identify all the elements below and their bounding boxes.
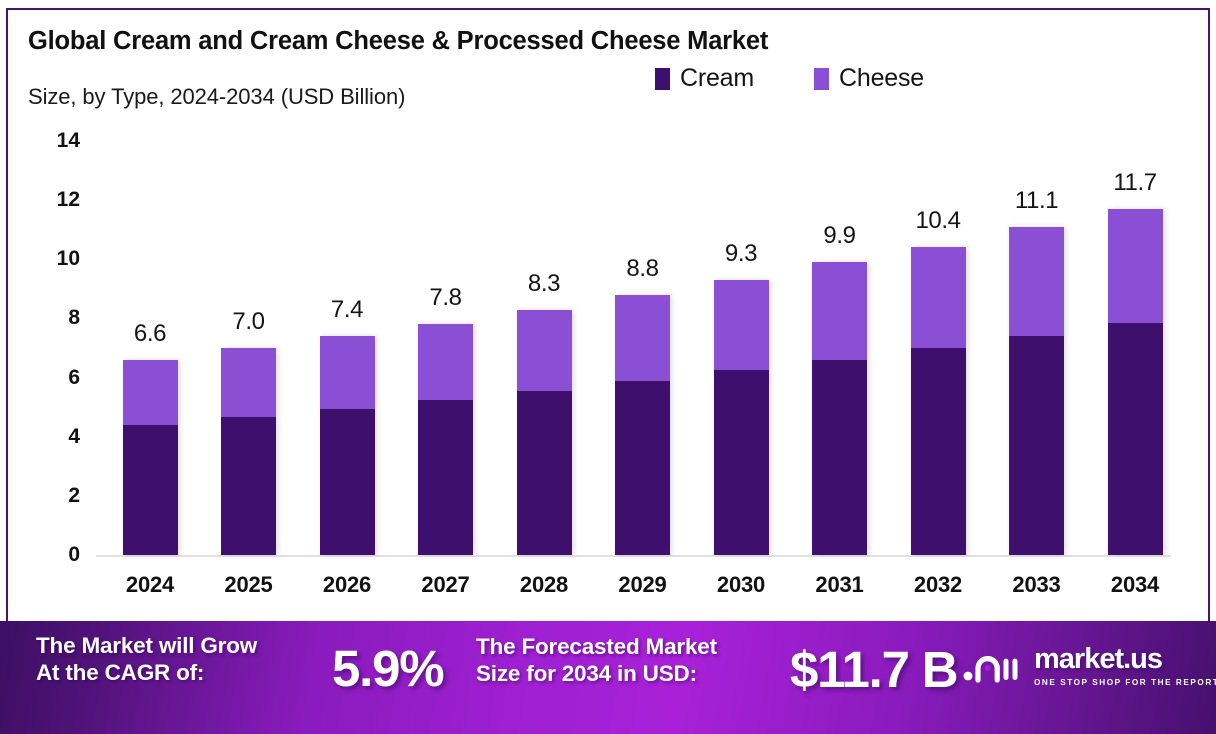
bar-segment-cheese[interactable] (911, 247, 966, 348)
bar-stack[interactable] (1009, 227, 1064, 555)
bar-stack[interactable] (123, 360, 178, 555)
bar-segment-cream[interactable] (418, 400, 473, 555)
bar-segment-cream[interactable] (615, 381, 670, 555)
bar-segment-cream[interactable] (911, 348, 966, 555)
bar-value-label: 9.3 (686, 240, 796, 268)
market-us-logo[interactable]: market.us ONE STOP SHOP FOR THE REPORTS (963, 645, 1216, 687)
x-axis-tick-label: 2027 (391, 572, 501, 598)
bar-value-label: 6.6 (95, 320, 205, 348)
x-axis-tick-label: 2029 (588, 572, 698, 598)
bar-segment-cream[interactable] (1009, 336, 1064, 555)
y-axis-tick-label: 14 (34, 129, 80, 153)
cagr-label-line1: The Market will Grow (36, 633, 257, 660)
y-axis-tick-label: 10 (34, 247, 80, 271)
bar-segment-cheese[interactable] (714, 280, 769, 370)
bar-segment-cheese[interactable] (812, 262, 867, 360)
bar-value-label: 9.9 (785, 222, 895, 250)
bar-segment-cream[interactable] (812, 360, 867, 555)
market-us-logo-icon (963, 649, 1025, 683)
forecast-label-line1: The Forecasted Market (476, 634, 717, 661)
bar-value-label: 7.4 (292, 296, 402, 324)
x-axis-tick-label: 2031 (785, 572, 895, 598)
bar-stack[interactable] (911, 247, 966, 555)
y-axis-tick-label: 8 (34, 306, 80, 330)
bar-stack[interactable] (221, 348, 276, 555)
forecast-label: The Forecasted Market Size for 2034 in U… (476, 634, 717, 687)
x-axis-tick-label: 2033 (982, 572, 1092, 598)
bar-segment-cheese[interactable] (517, 310, 572, 391)
bar-segment-cream[interactable] (221, 417, 276, 555)
bar-segment-cheese[interactable] (320, 336, 375, 408)
bar-value-label: 10.4 (883, 207, 993, 235)
bar-stack[interactable] (714, 280, 769, 555)
bar-segment-cheese[interactable] (221, 348, 276, 417)
bar-segment-cream[interactable] (123, 425, 178, 555)
bar-segment-cream[interactable] (320, 409, 375, 555)
bar-segment-cheese[interactable] (1108, 209, 1163, 323)
y-axis-tick-label: 12 (34, 188, 80, 212)
x-axis-tick-label: 2025 (194, 572, 304, 598)
x-axis-tick-label: 2032 (883, 572, 993, 598)
bar-value-label: 7.8 (391, 284, 501, 312)
bar-value-label: 7.0 (194, 308, 304, 336)
x-axis-tick-label: 2030 (686, 572, 796, 598)
bar-value-label: 8.8 (588, 255, 698, 283)
infographic-page: Global Cream and Cream Cheese & Processe… (0, 0, 1216, 734)
bar-segment-cheese[interactable] (615, 295, 670, 381)
bar-stack[interactable] (1108, 209, 1163, 555)
cagr-label-line2: At the CAGR of: (36, 660, 257, 687)
bar-stack[interactable] (517, 310, 572, 555)
bar-value-label: 8.3 (489, 270, 599, 298)
bar-segment-cheese[interactable] (1009, 227, 1064, 336)
bar-segment-cheese[interactable] (123, 360, 178, 425)
bar-segment-cream[interactable] (714, 370, 769, 555)
y-axis-tick-label: 2 (34, 484, 80, 508)
bar-stack[interactable] (418, 324, 473, 555)
logo-tagline: ONE STOP SHOP FOR THE REPORTS (1034, 678, 1216, 687)
x-axis-tick-label: 2024 (95, 572, 205, 598)
x-axis-tick-label: 2034 (1080, 572, 1190, 598)
bar-stack[interactable] (615, 295, 670, 555)
cagr-label: The Market will Grow At the CAGR of: (36, 633, 257, 686)
bar-stack[interactable] (812, 262, 867, 555)
x-axis-tick-label: 2028 (489, 572, 599, 598)
forecast-value: $11.7 B (790, 640, 957, 699)
forecast-label-line2: Size for 2034 in USD: (476, 661, 717, 688)
cagr-value: 5.9% (332, 639, 443, 698)
bar-segment-cream[interactable] (1108, 323, 1163, 555)
y-axis-tick-label: 4 (34, 425, 80, 449)
chart-plot-area: 02468101214 6.67.07.47.88.38.89.39.910.4… (0, 0, 1216, 621)
bar-value-label: 11.1 (982, 187, 1092, 215)
y-axis-tick-label: 0 (34, 543, 80, 567)
logo-text: market.us ONE STOP SHOP FOR THE REPORTS (1034, 645, 1216, 687)
x-axis-line (96, 555, 1171, 557)
x-axis-tick-label: 2026 (292, 572, 402, 598)
bar-stack[interactable] (320, 336, 375, 555)
bar-segment-cream[interactable] (517, 391, 572, 555)
y-axis-tick-label: 6 (34, 366, 80, 390)
logo-wordmark: market.us (1034, 645, 1216, 674)
bar-segment-cheese[interactable] (418, 324, 473, 399)
bar-value-label: 11.7 (1080, 169, 1190, 197)
